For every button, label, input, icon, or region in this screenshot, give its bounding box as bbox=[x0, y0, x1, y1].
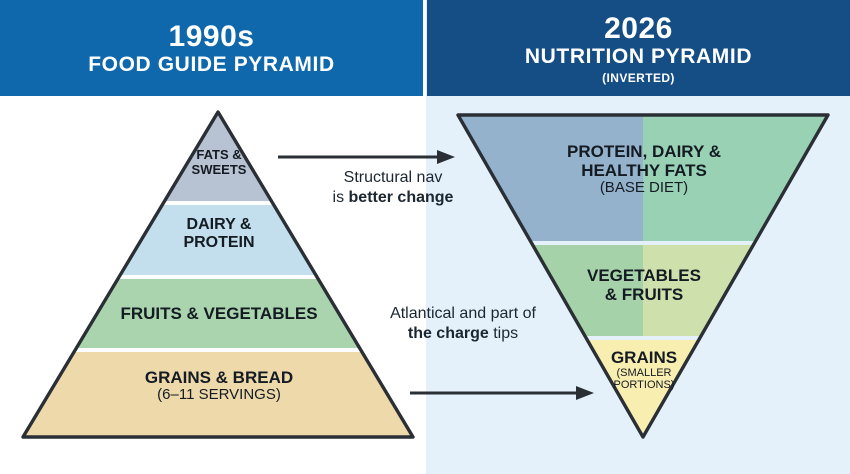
pyramid-shapes bbox=[0, 0, 850, 474]
inv-tier-veg-right bbox=[643, 245, 838, 336]
top-annotation-line2: is better change bbox=[300, 188, 486, 208]
top-arrow-icon bbox=[278, 150, 455, 164]
inv-tier-grains bbox=[450, 340, 838, 440]
top-annotation-line2-bold: better change bbox=[349, 189, 454, 206]
bottom-annotation-line2-bold: the charge bbox=[408, 325, 489, 342]
infographic-root: 1990s FOOD GUIDE PYRAMID 2026 NUTRITION … bbox=[0, 0, 850, 474]
top-annotation-line2-plain: is bbox=[333, 189, 349, 206]
bottom-annotation-line2: the charge tips bbox=[358, 324, 568, 344]
bottom-annotation-line1: Atlantical and part of bbox=[358, 304, 568, 324]
inverted-pyramid-tiers bbox=[450, 112, 838, 440]
bottom-arrow-icon bbox=[410, 386, 594, 400]
top-annotation-line1: Structural nav bbox=[300, 168, 486, 188]
top-annotation: Structural nav is better change bbox=[300, 168, 486, 209]
tier-dairy-protein bbox=[0, 205, 430, 275]
bottom-annotation-line2-plain: tips bbox=[489, 325, 518, 342]
inv-tier-protein-right bbox=[643, 112, 838, 241]
bottom-annotation: Atlantical and part of the charge tips bbox=[358, 304, 568, 345]
